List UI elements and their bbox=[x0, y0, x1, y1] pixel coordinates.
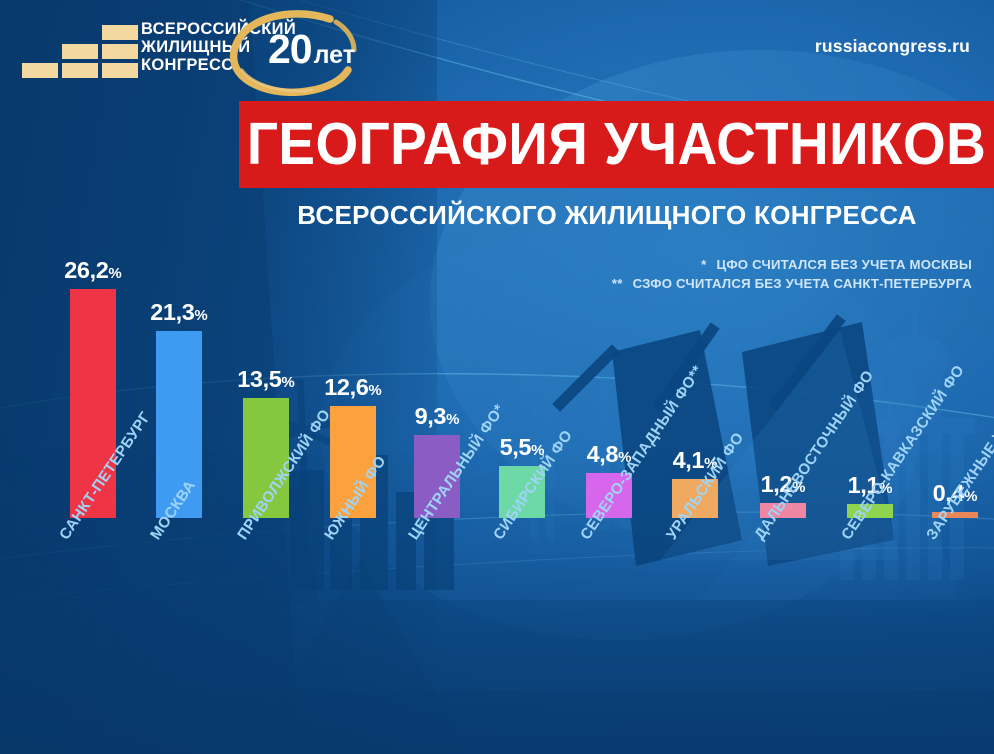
bar-value-number: 4,8 bbox=[587, 441, 618, 467]
bar-value-number: 5,5 bbox=[500, 434, 531, 460]
bar-chart: 26,2%САНКТ-ПЕТЕРБУРГ21,3%МОСКВА13,5%ПРИВ… bbox=[0, 0, 994, 754]
bar-value-label: 9,3% bbox=[415, 405, 460, 432]
bar-value-number: 26,2 bbox=[64, 257, 108, 283]
poster-root: ВСЕРОССИЙСКИЙ ЖИЛИЩНЫЙ КОНГРЕСС 20лет ru… bbox=[0, 0, 994, 754]
bar-value-number: 12,6 bbox=[324, 374, 368, 400]
bar-value-number: 4,1 bbox=[673, 447, 704, 473]
bar-value-label: 5,5% bbox=[500, 436, 545, 463]
bar-value-number: 13,5 bbox=[237, 366, 281, 392]
bar-value-number: 9,3 bbox=[415, 403, 446, 429]
bar-value-percent-sign: % bbox=[108, 265, 121, 282]
bar-value-label: 26,2% bbox=[64, 259, 121, 286]
bar-value-percent-sign: % bbox=[281, 374, 294, 391]
bar-value-percent-sign: % bbox=[194, 307, 207, 324]
bar-value-label: 21,3% bbox=[150, 301, 207, 328]
bar-value-label: 12,6% bbox=[324, 376, 381, 403]
bar-value-label: 13,5% bbox=[237, 368, 294, 395]
bar-value-percent-sign: % bbox=[446, 411, 459, 428]
bar-value-percent-sign: % bbox=[368, 382, 381, 399]
bar-value-number: 21,3 bbox=[150, 299, 194, 325]
